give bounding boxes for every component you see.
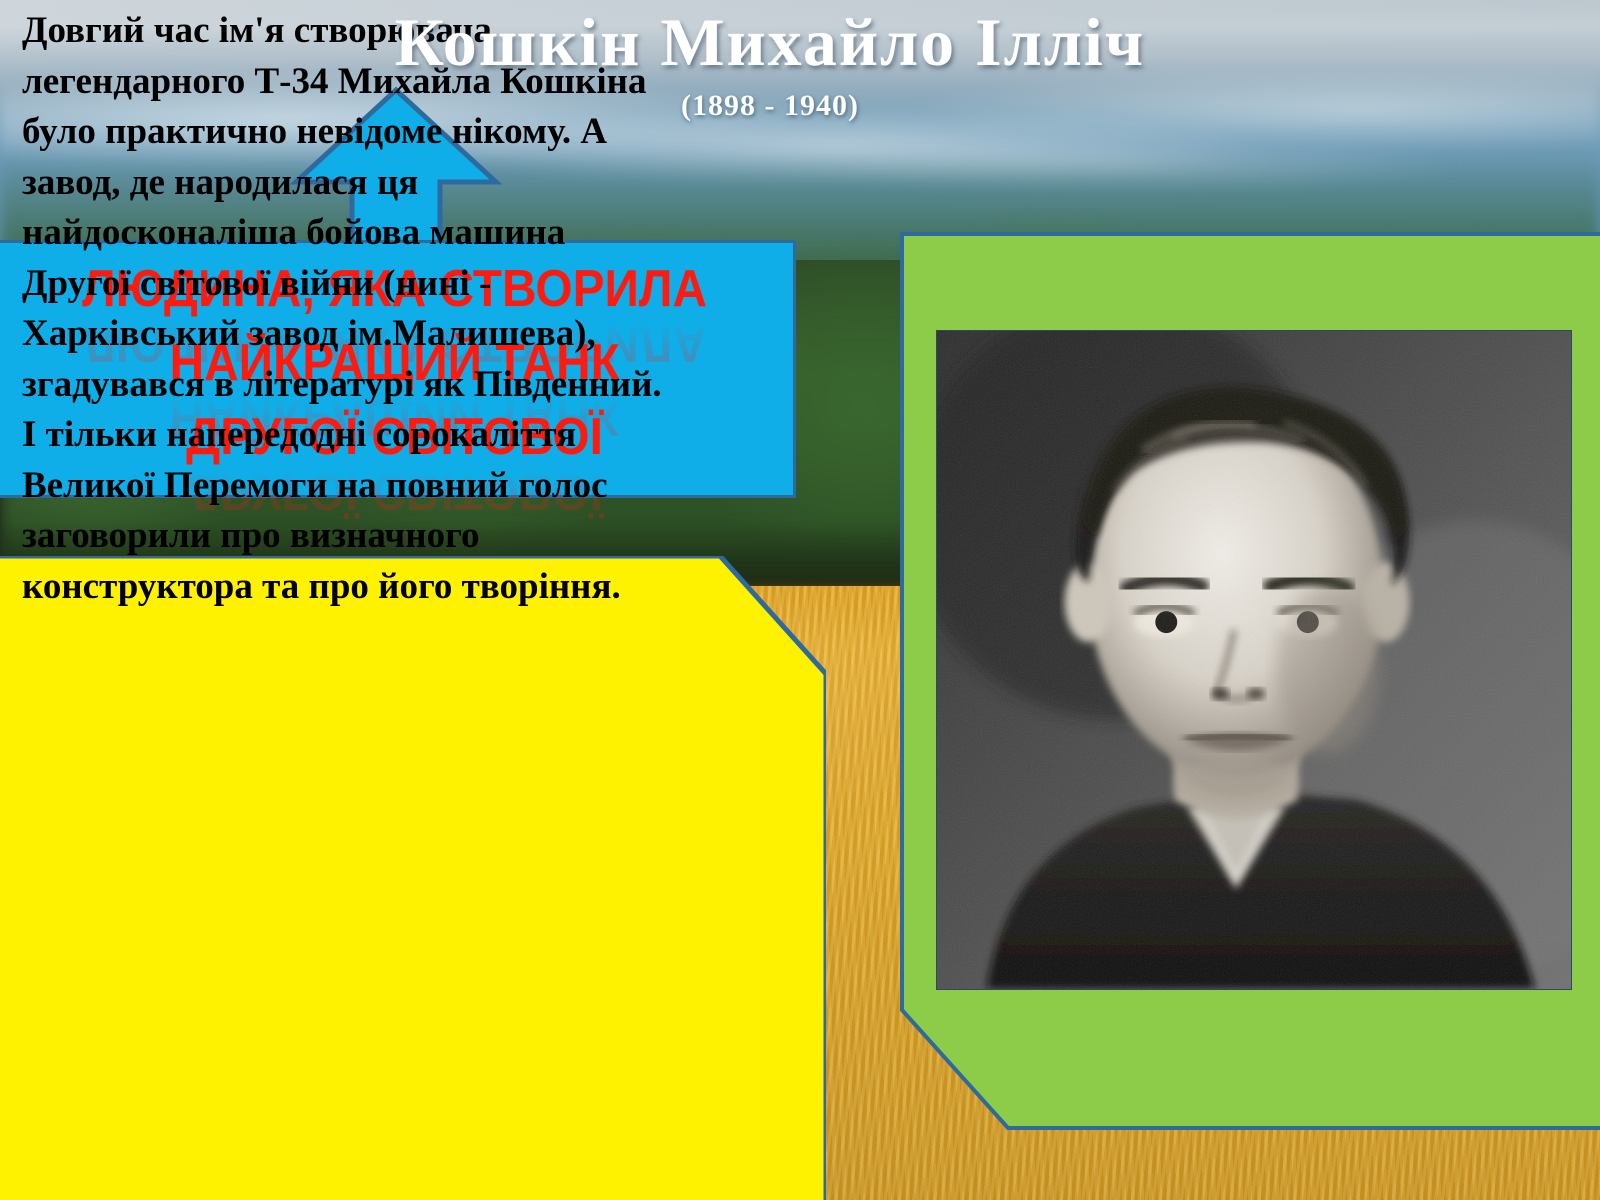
body-line: найдосконаліша бойова машина	[22, 208, 812, 259]
body-line: згадувався в літературі як Південний.	[22, 360, 812, 411]
presentation-slide: Кошкін Михайло Ілліч (1898 - 1940) Людин…	[0, 0, 1600, 1200]
body-line: заговорили про визначного	[22, 511, 812, 562]
body-line: Другої світової війни (нині -	[22, 259, 812, 310]
body-line: конструктора та про його творіння.	[22, 562, 812, 613]
body-line: І тільки напередодні сорокаліття	[22, 410, 812, 461]
body-line: Харківський завод ім.Малишева),	[22, 309, 812, 360]
body-line: завод, де народилася ця	[22, 158, 812, 209]
page-title: Кошкін Михайло Ілліч	[260, 8, 1280, 77]
portrait-photo	[936, 330, 1572, 990]
slide-title-block: Кошкін Михайло Ілліч (1898 - 1940)	[260, 8, 1280, 123]
yellow-text-panel	[0, 556, 826, 1200]
title-life-dates: (1898 - 1940)	[260, 89, 1280, 123]
body-line: Великої Перемоги на повний голос	[22, 461, 812, 512]
